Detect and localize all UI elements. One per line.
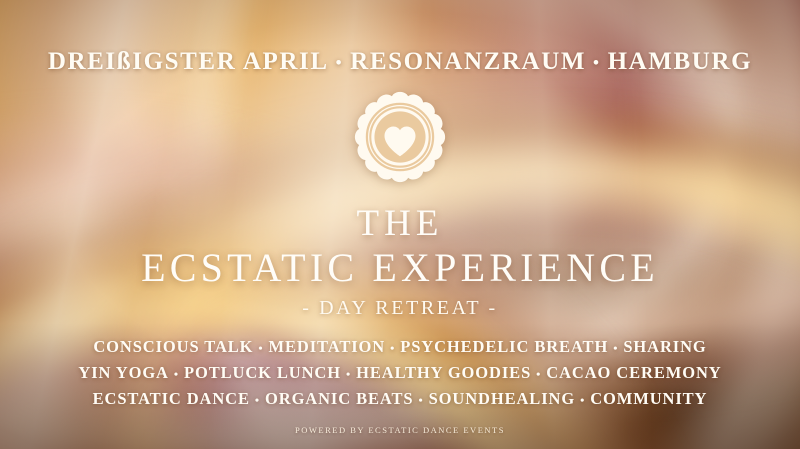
feature-item: SHARING [623, 337, 706, 356]
event-poster: DREIßIGSTER APRIL•RESONANZRAUM•HAMBURG [0, 0, 800, 449]
headline-city: HAMBURG [608, 48, 753, 75]
title-line-the: THE [357, 205, 444, 242]
feature-item: ECSTATIC DANCE [93, 389, 250, 408]
feature-item: HEALTHY GOODIES [356, 363, 531, 382]
headline-venue: RESONANZRAUM [350, 48, 586, 75]
feature-line-3: ECSTATIC DANCE•ORGANIC BEATS•SOUNDHEALIN… [93, 389, 708, 409]
feature-line-1: CONSCIOUS TALK•MEDITATION•PSYCHEDELIC BR… [93, 337, 706, 357]
feature-item: PSYCHEDELIC BREATH [400, 337, 608, 356]
feature-item: SOUNDHEALING [429, 389, 576, 408]
feature-item: MEDITATION [269, 337, 386, 356]
footer-credit: POWERED BY ECSTATIC DANCE EVENTS [0, 425, 800, 435]
bullet-separator-icon: • [608, 341, 623, 355]
bullet-separator-icon: • [253, 341, 268, 355]
headline-location-date: DREIßIGSTER APRIL [48, 48, 329, 75]
bullet-separator-icon: • [575, 393, 590, 407]
feature-item: POTLUCK LUNCH [184, 363, 341, 382]
lotus-heart-mandala-logo-icon [353, 90, 447, 184]
feature-item: ORGANIC BEATS [265, 389, 413, 408]
bullet-separator-icon: • [341, 367, 356, 381]
feature-item: COMMUNITY [590, 389, 707, 408]
bullet-separator-icon: • [329, 53, 351, 72]
feature-item: CONSCIOUS TALK [93, 337, 253, 356]
feature-item: CACAO CEREMONY [546, 363, 721, 382]
bullet-separator-icon: • [531, 367, 546, 381]
feature-line-2: YIN YOGA•POTLUCK LUNCH•HEALTHY GOODIES•C… [78, 363, 721, 383]
feature-item: YIN YOGA [78, 363, 168, 382]
bullet-separator-icon: • [169, 367, 184, 381]
bullet-separator-icon: • [586, 53, 608, 72]
bullet-separator-icon: • [250, 393, 265, 407]
title-subtitle: - DAY RETREAT - [302, 297, 497, 320]
bullet-separator-icon: • [385, 341, 400, 355]
event-headline: DREIßIGSTER APRIL•RESONANZRAUM•HAMBURG [48, 48, 752, 76]
poster-content: DREIßIGSTER APRIL•RESONANZRAUM•HAMBURG [0, 0, 800, 449]
feature-list: CONSCIOUS TALK•MEDITATION•PSYCHEDELIC BR… [78, 337, 721, 409]
title-line-main: ECSTATIC EXPERIENCE [141, 248, 659, 288]
bullet-separator-icon: • [413, 393, 428, 407]
